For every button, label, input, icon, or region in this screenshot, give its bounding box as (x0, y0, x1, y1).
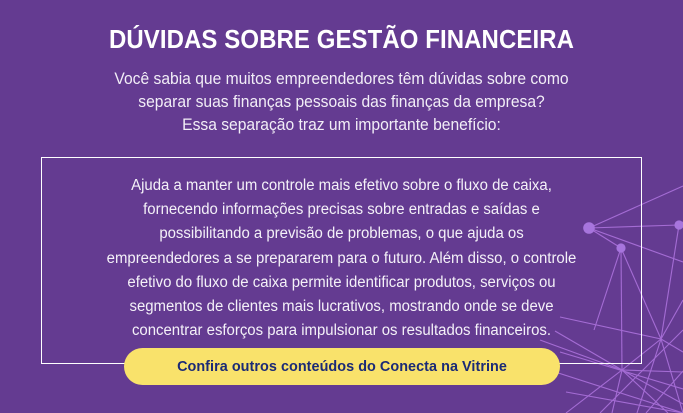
body-line: fornecendo informações precisas sobre en… (50, 198, 633, 222)
banner-content: DÚVIDAS SOBRE GESTÃO FINANCEIRA Você sab… (0, 0, 683, 413)
subtitle-line: Você sabia que muitos empreendedores têm… (12, 68, 671, 91)
page-title: DÚVIDAS SOBRE GESTÃO FINANCEIRA (20, 0, 662, 54)
body-line: segmentos de clientes mais lucrativos, m… (50, 295, 633, 319)
body-line: empreendedores a se prepararem para o fu… (50, 247, 633, 271)
subtitle-line: Essa separação traz um importante benefí… (12, 114, 671, 137)
body-line: Ajuda a manter um controle mais efetivo … (50, 174, 633, 198)
promo-banner: DÚVIDAS SOBRE GESTÃO FINANCEIRA Você sab… (0, 0, 683, 413)
body-line: concentrar esforços para impulsionar os … (50, 319, 633, 343)
cta-button-conecta-vitrine[interactable]: Confira outros conteúdos do Conecta na V… (124, 348, 560, 385)
subtitle-line: separar suas finanças pessoais das finan… (12, 91, 671, 114)
body-copy: Ajuda a manter um controle mais efetivo … (50, 174, 633, 343)
body-line: possibilitando a previsão de problemas, … (50, 222, 633, 246)
body-line: efetivo do fluxo de caixa permite identi… (50, 271, 633, 295)
subtitle: Você sabia que muitos empreendedores têm… (12, 54, 671, 137)
